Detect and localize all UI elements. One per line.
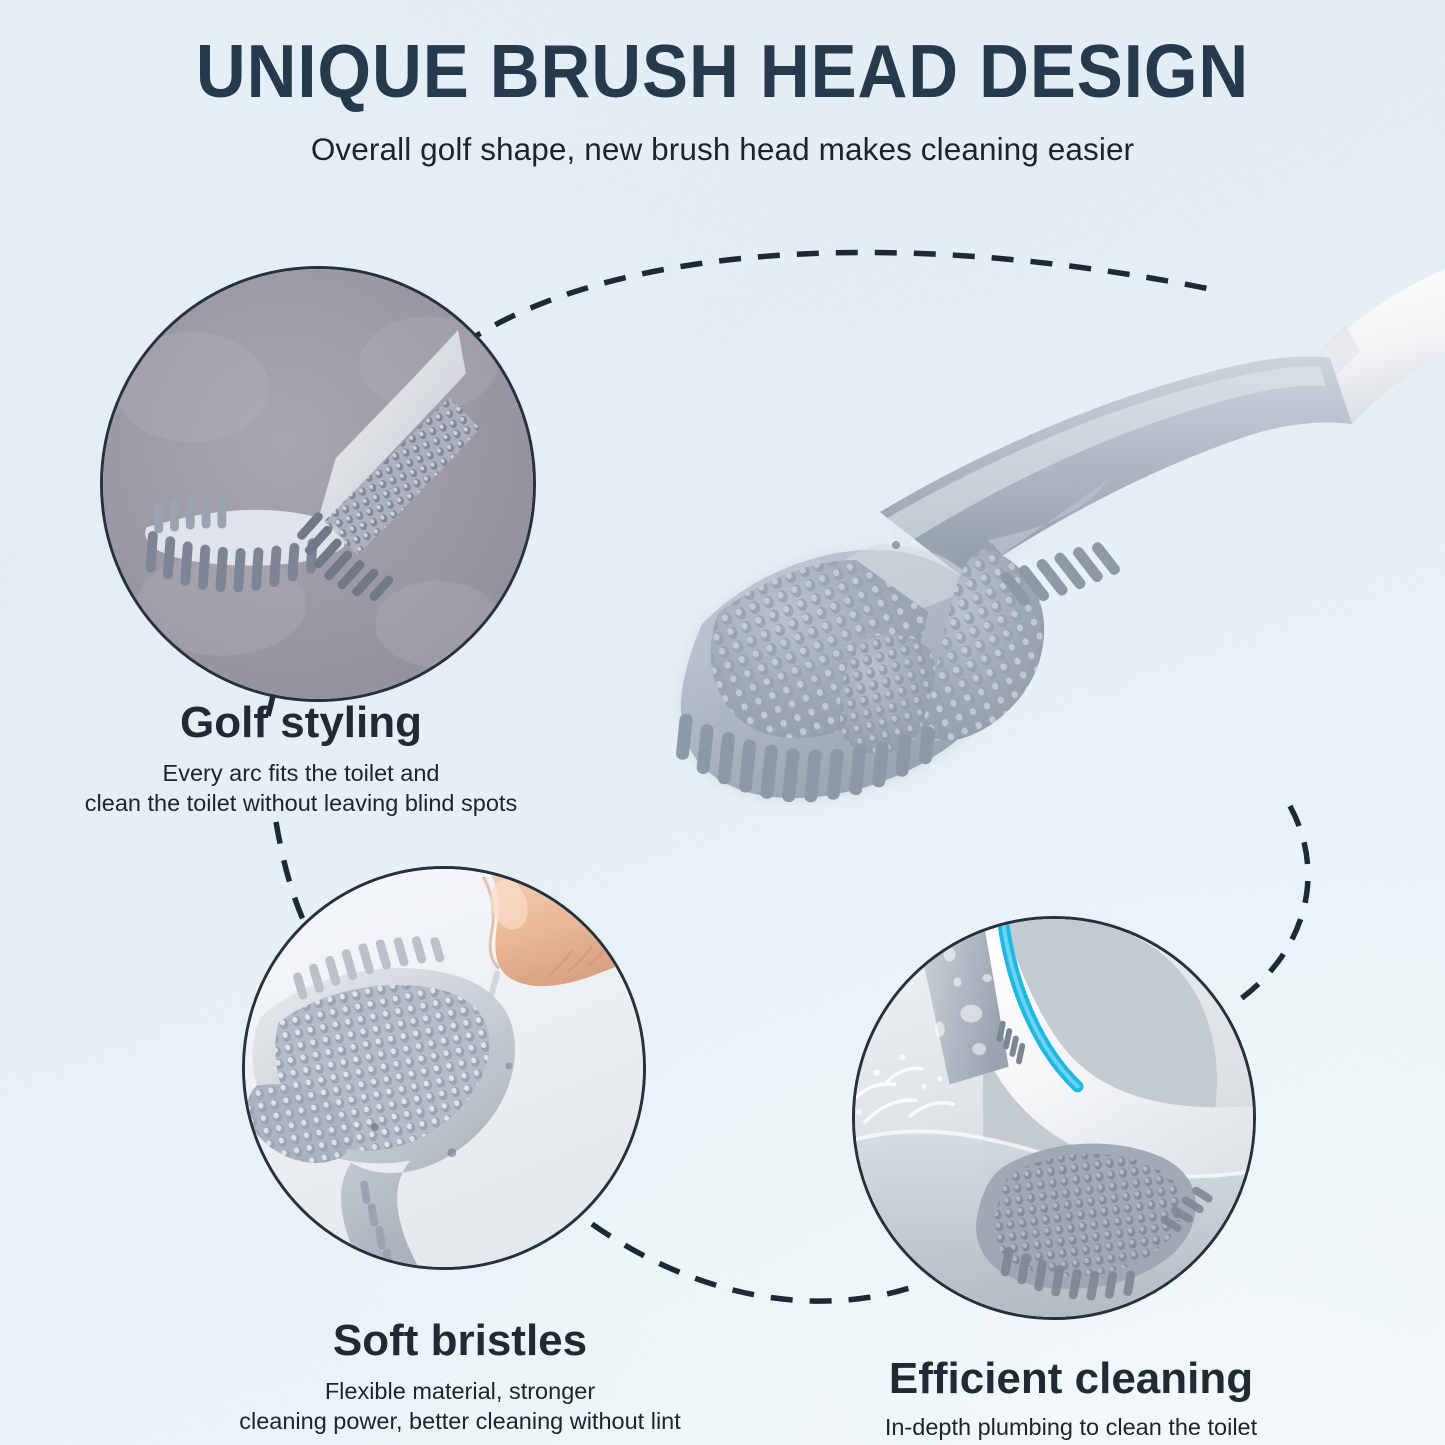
- inset-soft-bristles: [242, 866, 646, 1270]
- callout-efficient-cleaning: Efficient cleaning In-depth plumbing to …: [836, 1356, 1306, 1442]
- brush-shaft: [880, 357, 1352, 580]
- callout-soft-line1: Flexible material, stronger: [230, 1376, 690, 1406]
- inset-golf-styling: [100, 266, 536, 702]
- callout-golf-line1: Every arc fits the toilet and: [66, 758, 536, 788]
- inset-soft-image: [245, 869, 643, 1267]
- inset-efficient-cleaning: [852, 916, 1256, 1320]
- callout-golf-styling: Golf styling Every arc fits the toilet a…: [66, 700, 536, 818]
- callout-eff-heading: Efficient cleaning: [836, 1356, 1306, 1402]
- callout-eff-line1: In-depth plumbing to clean the toilet: [836, 1412, 1306, 1442]
- callout-soft-bristles: Soft bristles Flexible material, stronge…: [230, 1318, 690, 1436]
- callout-eff-body: In-depth plumbing to clean the toilet: [836, 1412, 1306, 1442]
- callout-soft-heading: Soft bristles: [230, 1318, 690, 1364]
- callout-golf-body: Every arc fits the toilet and clean the …: [66, 758, 536, 818]
- callout-soft-line2: cleaning power, better cleaning without …: [230, 1406, 690, 1436]
- callout-golf-heading: Golf styling: [66, 700, 536, 746]
- callout-golf-line2: clean the toilet without leaving blind s…: [66, 788, 536, 818]
- brush-hole: [892, 541, 900, 549]
- callout-soft-body: Flexible material, stronger cleaning pow…: [230, 1376, 690, 1436]
- inset-golf-image: [103, 269, 533, 699]
- inset-efficient-image: [855, 919, 1253, 1317]
